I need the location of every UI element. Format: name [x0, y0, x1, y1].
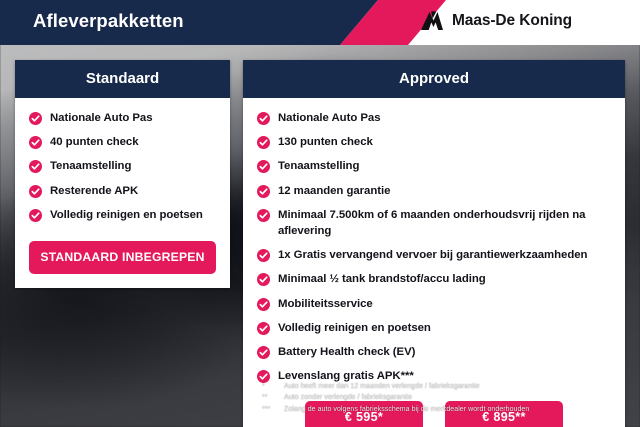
feature-item: Minimaal ½ tank brandstof/accu lading: [257, 271, 611, 287]
feature-item: 40 punten check: [29, 134, 216, 150]
feature-label: 1x Gratis vervangend vervoer bij garanti…: [278, 247, 587, 263]
feature-label: Volledig reinigen en poetsen: [50, 207, 203, 223]
check-circle-icon: [257, 112, 270, 125]
slide-root: Afleverpakketten Maas-De Koning Standaar…: [0, 0, 640, 427]
feature-item: 12 maanden garantie: [257, 183, 611, 199]
check-circle-icon: [257, 273, 270, 286]
footnote-row: **Auto zonder verlengde / fabrieksgarant…: [262, 392, 622, 403]
footnote-marker: *: [262, 381, 284, 392]
feature-label: Mobiliteitsservice: [278, 296, 373, 312]
feature-item: Nationale Auto Pas: [257, 110, 611, 126]
feature-label: 40 punten check: [50, 134, 139, 150]
check-circle-icon: [257, 322, 270, 335]
feature-item: 130 punten check: [257, 134, 611, 150]
check-circle-icon: [257, 298, 270, 311]
feature-label: Volledig reinigen en poetsen: [278, 320, 431, 336]
footnote-marker: ***: [262, 404, 284, 415]
check-circle-icon: [257, 209, 270, 222]
top-brand-bar: Afleverpakketten Maas-De Koning: [0, 0, 640, 45]
feature-item: 1x Gratis vervangend vervoer bij garanti…: [257, 247, 611, 263]
card-heading-approved: Approved: [243, 60, 625, 98]
feature-label: Tenaamstelling: [50, 158, 131, 174]
feature-item: Tenaamstelling: [29, 158, 216, 174]
footnote-row: ***Zolang de auto volgens fabrieksschema…: [262, 404, 622, 415]
check-circle-icon: [29, 185, 42, 198]
feature-label: 12 maanden garantie: [278, 183, 390, 199]
card-body-standaard: Nationale Auto Pas40 punten checkTenaams…: [15, 98, 230, 288]
feature-label: Nationale Auto Pas: [50, 110, 152, 126]
package-card-approved: Approved Nationale Auto Pas130 punten ch…: [243, 60, 625, 427]
feature-label: Minimaal 7.500km of 6 maanden onderhouds…: [278, 207, 611, 239]
feature-item: Volledig reinigen en poetsen: [257, 320, 611, 336]
brand-name: Maas-De Koning: [452, 12, 572, 30]
check-circle-icon: [257, 136, 270, 149]
feature-label: Resterende APK: [50, 183, 138, 199]
feature-label: Battery Health check (EV): [278, 344, 415, 360]
check-circle-icon: [257, 249, 270, 262]
footnote-row: *Auto heeft meer dan 12 maanden verlengd…: [262, 381, 622, 392]
check-circle-icon: [29, 112, 42, 125]
feature-item: Battery Health check (EV): [257, 344, 611, 360]
feature-list-approved: Nationale Auto Pas130 punten checkTenaam…: [257, 110, 611, 384]
check-circle-icon: [29, 209, 42, 222]
check-circle-icon: [29, 136, 42, 149]
feature-label: 130 punten check: [278, 134, 373, 150]
feature-item: Mobiliteitsservice: [257, 296, 611, 312]
check-circle-icon: [257, 160, 270, 173]
feature-label: Tenaamstelling: [278, 158, 359, 174]
card-body-approved: Nationale Auto Pas130 punten checkTenaam…: [243, 98, 625, 427]
footnote-marker: **: [262, 392, 284, 403]
feature-item: Nationale Auto Pas: [29, 110, 216, 126]
check-circle-icon: [29, 160, 42, 173]
check-circle-icon: [257, 185, 270, 198]
feature-item: Minimaal 7.500km of 6 maanden onderhouds…: [257, 207, 611, 239]
footnote-block: *Auto heeft meer dan 12 maanden verlengd…: [262, 381, 622, 415]
feature-item: Resterende APK: [29, 183, 216, 199]
page-title: Afleverpakketten: [33, 10, 184, 32]
feature-label: Minimaal ½ tank brandstof/accu lading: [278, 271, 486, 287]
check-circle-icon: [257, 346, 270, 359]
package-card-standaard: Standaard Nationale Auto Pas40 punten ch…: [15, 60, 230, 288]
footnote-text: Zolang de auto volgens fabrieksschema bi…: [284, 404, 529, 415]
feature-label: Nationale Auto Pas: [278, 110, 380, 126]
card-heading-standaard: Standaard: [15, 60, 230, 98]
brand-lockup: Maas-De Koning: [419, 10, 572, 32]
feature-list-standaard: Nationale Auto Pas40 punten checkTenaams…: [29, 110, 216, 223]
feature-item: Volledig reinigen en poetsen: [29, 207, 216, 223]
footnote-text: Auto heeft meer dan 12 maanden verlengde…: [284, 381, 480, 392]
footnote-text: Auto zonder verlengde / fabrieksgarantie: [284, 392, 412, 403]
maas-de-koning-m-logo-icon: [419, 10, 445, 32]
standaard-inbegrepen-button[interactable]: STANDAARD INBEGREPEN: [29, 241, 216, 274]
feature-item: Tenaamstelling: [257, 158, 611, 174]
